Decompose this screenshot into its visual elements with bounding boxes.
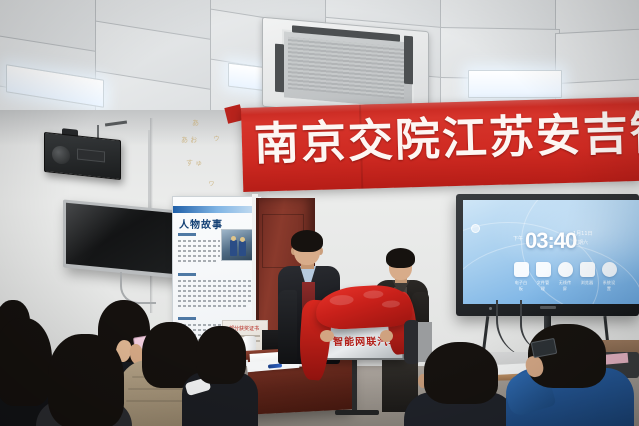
- classroom-ceremony-photo: あ あ お ゥ す ゅ ヮ 南京交院江苏安吉智行技能大 人物故事: [0, 0, 639, 426]
- plaque-stand: [352, 352, 357, 412]
- app-label: 文件管理: [535, 280, 551, 292]
- presenter-jacket-hand: [380, 330, 393, 342]
- presenter-suit-hand: [320, 330, 334, 342]
- wall-decal: あ お: [181, 135, 197, 145]
- display-app-files[interactable]: 文件管理: [535, 262, 551, 292]
- display-app-browser[interactable]: 浏览器: [579, 262, 595, 286]
- display-app-cast[interactable]: 无线传屏: [557, 262, 573, 292]
- smart-display-screen[interactable]: 下午 03:40 1月11日 星期六 电子白板 文件管理 无线传屏 浏览器 系统…: [463, 200, 639, 304]
- presenter-jacket-hair: [386, 248, 415, 268]
- plaque-foot: [335, 410, 379, 415]
- ceiling-light-right: [468, 70, 562, 98]
- wall-decal: ゥ: [213, 133, 220, 143]
- wall-decal: ヮ: [208, 178, 215, 188]
- browser-icon: [580, 262, 595, 277]
- audience-person-1-hair: [0, 318, 52, 406]
- presenter-suit-arm: [278, 290, 297, 362]
- display-app-settings[interactable]: 系统设置: [601, 262, 617, 292]
- display-led-icon: [489, 307, 492, 310]
- whiteboard-icon: [514, 262, 529, 277]
- screen-menu-dot-icon[interactable]: [471, 224, 480, 233]
- poster-header-band: [173, 206, 261, 213]
- ceremony-banner: 南京交院江苏安吉智行技能大: [241, 97, 639, 192]
- app-label: 电子白板: [513, 280, 529, 292]
- clock-time: 03:40: [525, 228, 576, 254]
- tv-cable: [148, 130, 150, 208]
- poster-title: 人物故事: [179, 216, 223, 231]
- app-label: 系统设置: [601, 280, 617, 292]
- display-app-whiteboard[interactable]: 电子白板: [513, 262, 529, 292]
- cast-icon: [558, 262, 573, 277]
- audience-right-1-hair: [424, 342, 498, 404]
- ac-grille: [288, 37, 404, 99]
- audience-person-5-hair: [196, 326, 246, 384]
- ac-vent-right: [404, 36, 413, 85]
- wall-decal: す ゅ: [186, 158, 202, 168]
- wall-decal: あ: [192, 118, 199, 128]
- clock-date: 1月11日: [573, 231, 593, 237]
- audience-person-2-hair: [48, 334, 124, 426]
- clock-weekday: 星期六: [573, 240, 588, 246]
- ac-vent-left: [275, 44, 284, 93]
- app-label: 浏览器: [579, 280, 595, 286]
- settings-icon: [602, 262, 617, 277]
- clock-ampm: 下午: [513, 236, 523, 242]
- folder-icon: [536, 262, 551, 277]
- left-tv-glare: [66, 203, 176, 275]
- app-label: 无线传屏: [557, 280, 573, 292]
- presenter-suit-hair: [291, 230, 323, 252]
